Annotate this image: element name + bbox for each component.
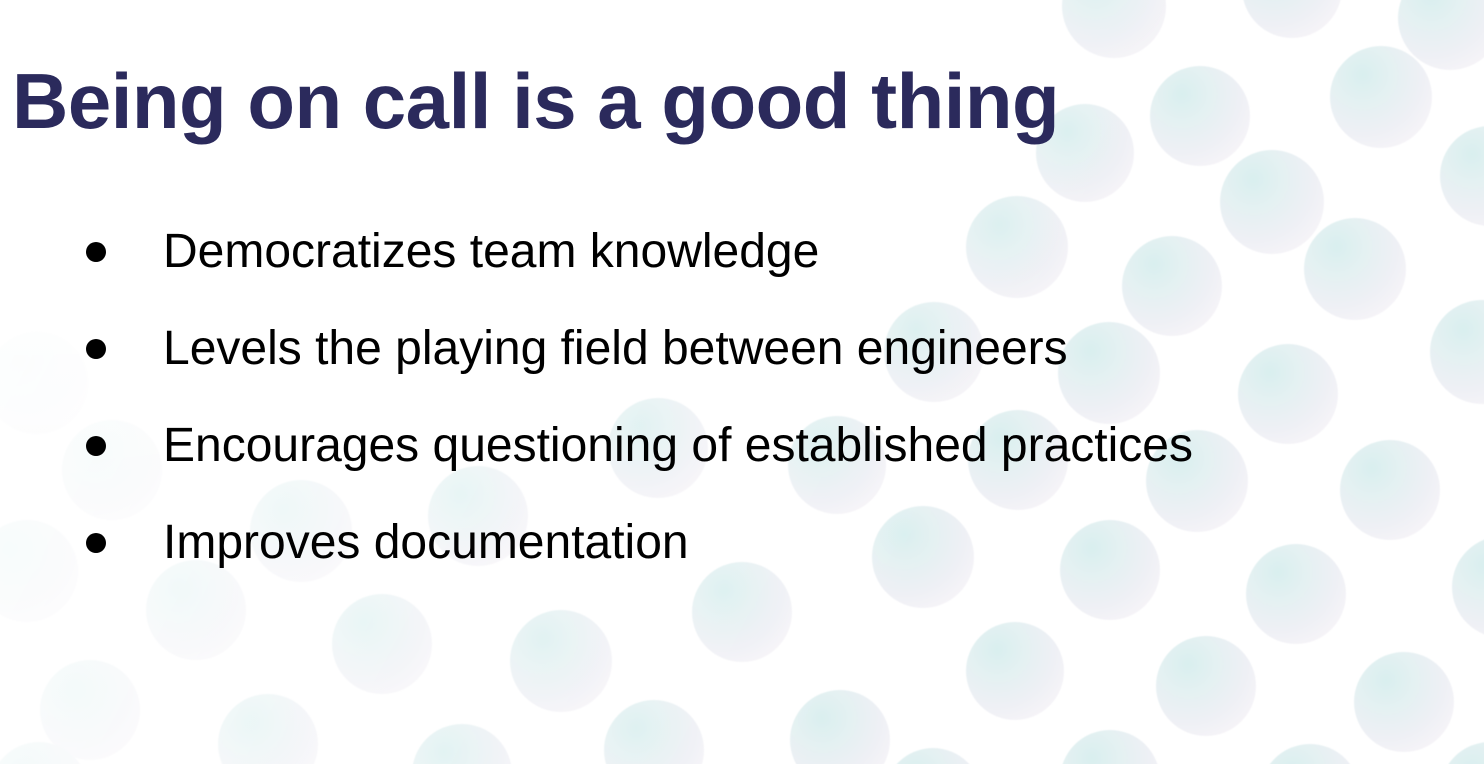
list-item: Levels the playing field between enginee…: [86, 325, 1193, 422]
bullet-dot-icon: [86, 533, 108, 553]
slide-canvas: Being on call is a good thing Democratiz…: [0, 0, 1484, 764]
list-item-label: Levels the playing field between enginee…: [163, 325, 1068, 373]
page-title: Being on call is a good thing: [12, 58, 1059, 145]
bullet-dot-icon: [86, 436, 108, 456]
bullet-dot-icon: [86, 339, 108, 359]
list-item-label: Improves documentation: [163, 519, 689, 567]
list-item: Democratizes team knowledge: [86, 228, 1193, 325]
slide-content: Being on call is a good thing Democratiz…: [0, 0, 1484, 764]
list-item: Encourages questioning of established pr…: [86, 422, 1193, 519]
list-item-label: Encourages questioning of established pr…: [163, 422, 1193, 470]
list-item: Improves documentation: [86, 519, 1193, 616]
bullet-dot-icon: [86, 242, 108, 262]
bullet-list: Democratizes team knowledgeLevels the pl…: [86, 228, 1193, 616]
list-item-label: Democratizes team knowledge: [163, 228, 819, 276]
